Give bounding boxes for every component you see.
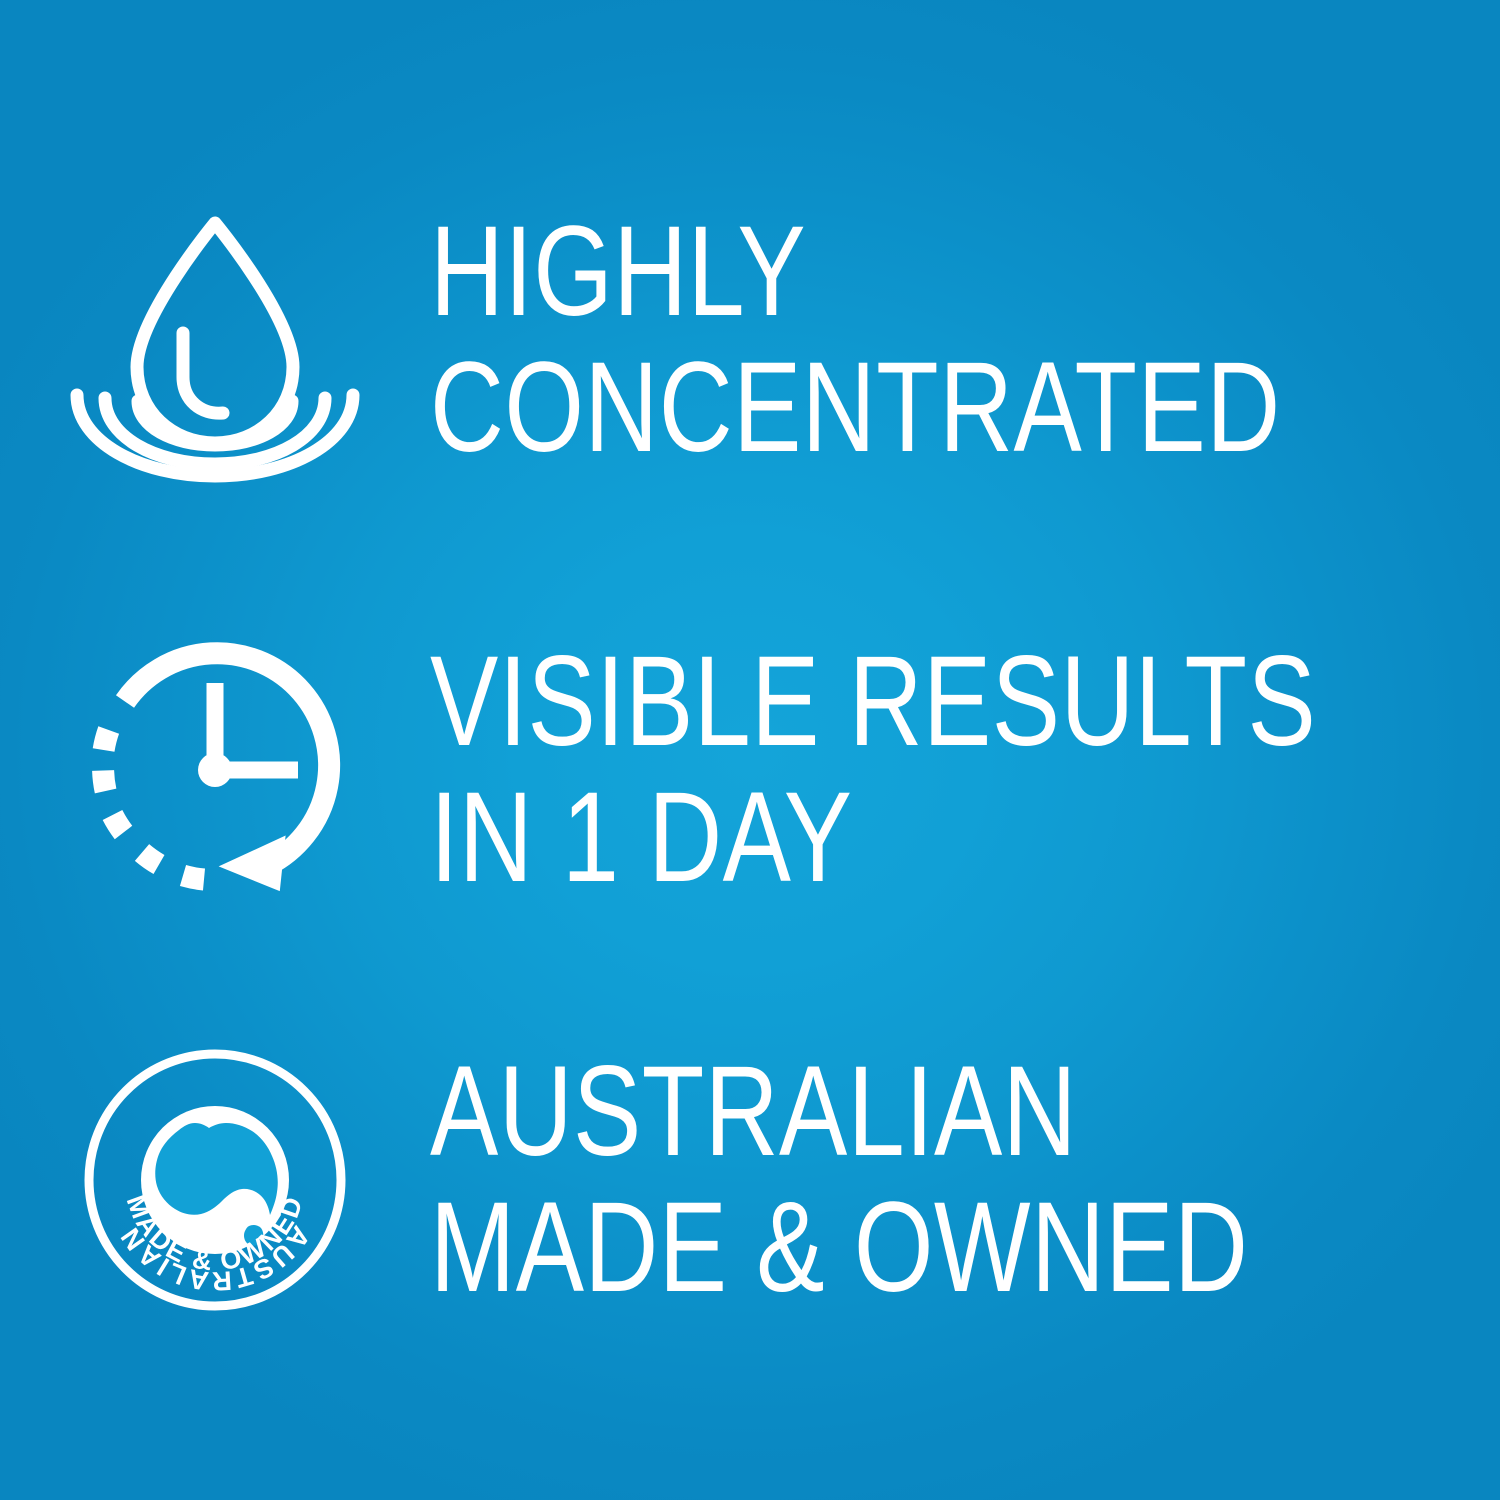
feature-text-cell: AUSTRALIAN MADE & OWNED xyxy=(430,1044,1500,1315)
feature-row-highly-concentrated: HIGHLY CONCENTRATED xyxy=(0,190,1500,490)
clock-dashed-ticks xyxy=(103,730,204,880)
feature-text-cell: HIGHLY CONCENTRATED xyxy=(430,204,1500,475)
clock-hands xyxy=(215,683,298,770)
feature-text-cell: VISIBLE RESULTS IN 1 DAY xyxy=(430,634,1500,905)
clock-arrow-24h-icon xyxy=(70,625,360,915)
clock-center-dot-icon xyxy=(198,753,232,787)
australian-made-owned-badge-icon: AUSTRALIAN MADE & OWNED xyxy=(83,1048,347,1312)
clock-arrow-head-icon xyxy=(216,827,287,891)
water-drop-ripple-icon xyxy=(65,205,365,475)
feature-icon-cell xyxy=(0,190,430,490)
feature-line: IN 1 DAY xyxy=(430,770,1316,906)
feature-icon-cell xyxy=(0,620,430,920)
feature-row-australian-made: AUSTRALIAN MADE & OWNED AUSTRALIAN MADE … xyxy=(0,1030,1500,1330)
feature-line: VISIBLE RESULTS xyxy=(430,634,1316,770)
feature-line: AUSTRALIAN xyxy=(430,1044,1286,1180)
feature-line: CONCENTRATED xyxy=(430,340,1286,476)
feature-line: HIGHLY xyxy=(430,204,1286,340)
feature-row-visible-results: VISIBLE RESULTS IN 1 DAY xyxy=(0,620,1500,920)
feature-line: MADE & OWNED xyxy=(430,1180,1286,1316)
feature-poster: HIGHLY CONCENTRATED xyxy=(0,0,1500,1500)
feature-icon-cell: AUSTRALIAN MADE & OWNED xyxy=(0,1030,430,1330)
